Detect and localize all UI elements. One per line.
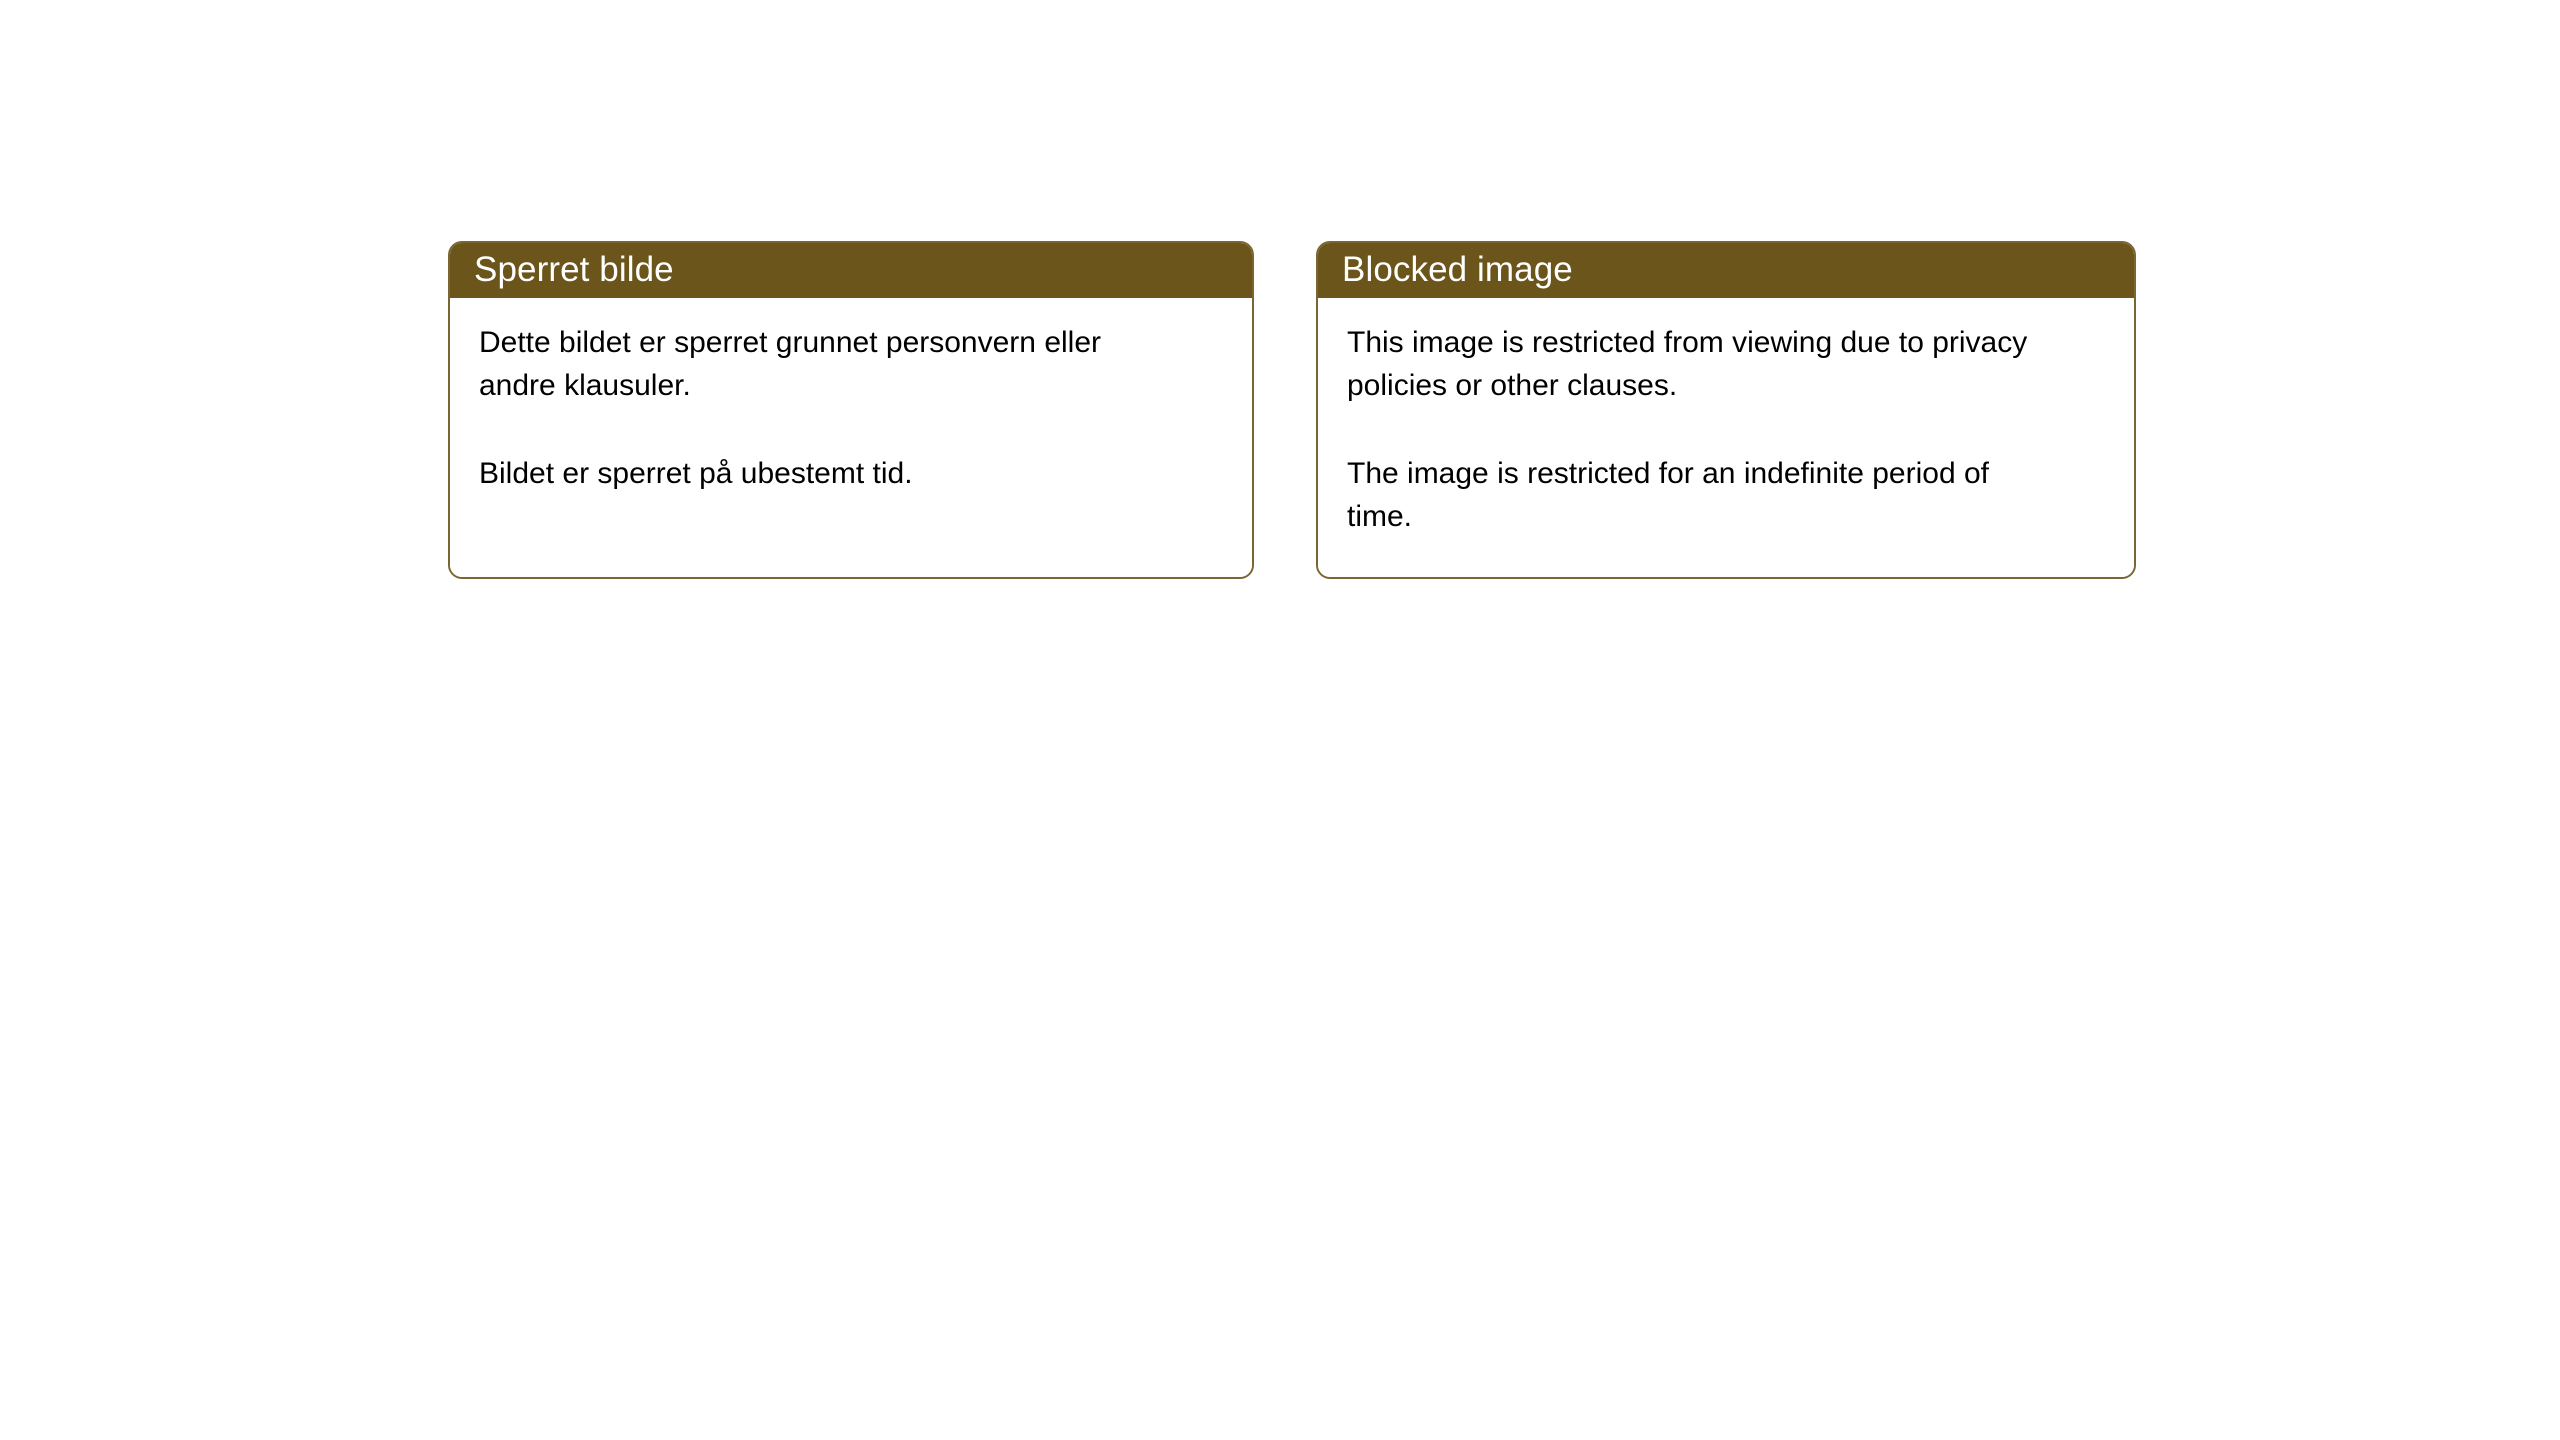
card-paragraph-primary-norwegian: Dette bildet er sperret grunnet personve…: [479, 321, 1179, 407]
page-canvas: Sperret bilde Dette bildet er sperret gr…: [0, 0, 2560, 1440]
card-title-english: Blocked image: [1342, 252, 1573, 287]
blocked-image-card-english: Blocked image This image is restricted f…: [1316, 241, 2136, 579]
card-header-english: Blocked image: [1316, 241, 2136, 298]
card-paragraph-secondary-english: The image is restricted for an indefinit…: [1347, 452, 2059, 538]
blocked-image-card-norwegian: Sperret bilde Dette bildet er sperret gr…: [448, 241, 1254, 579]
card-paragraph-primary-english: This image is restricted from viewing du…: [1347, 321, 2059, 407]
card-paragraph-secondary-norwegian: Bildet er sperret på ubestemt tid.: [479, 452, 1179, 495]
card-title-norwegian: Sperret bilde: [474, 252, 674, 287]
card-body-norwegian: Dette bildet er sperret grunnet personve…: [450, 298, 1252, 577]
card-header-norwegian: Sperret bilde: [448, 241, 1254, 298]
card-body-english: This image is restricted from viewing du…: [1318, 298, 2134, 577]
